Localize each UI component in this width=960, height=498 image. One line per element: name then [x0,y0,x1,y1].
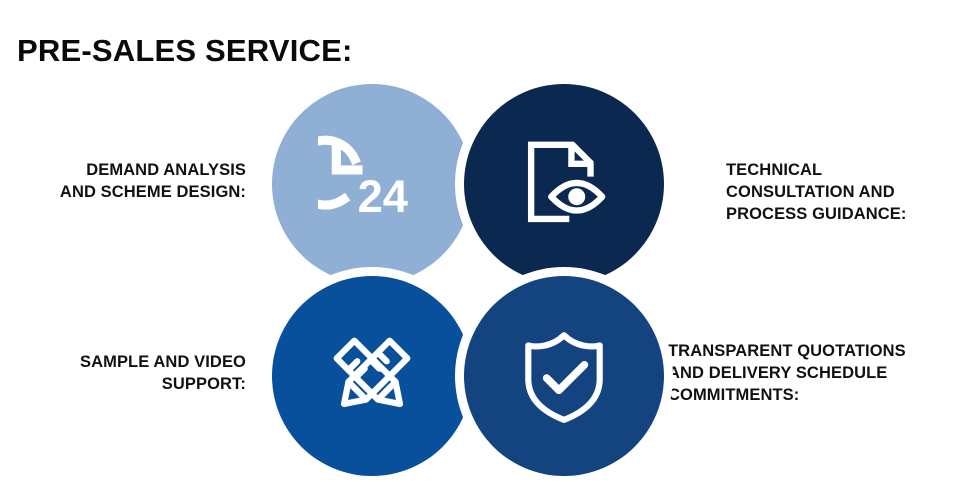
crossed-pens-design-icon [272,276,472,476]
svg-text:24: 24 [358,171,408,222]
document-eye-review-icon [464,84,664,284]
petal-transparent-quotations[interactable] [464,276,664,476]
24-hour-rotate-arrow-icon: 24 [272,84,472,284]
label-transparent-quotations: TRANSPARENT QUOTATIONS AND DELIVERY SCHE… [668,341,960,406]
page-title: PRE-SALES SERVICE: [17,33,353,69]
label-demand-analysis: DEMAND ANALYSIS AND SCHEME DESIGN: [0,160,246,204]
shield-check-icon [464,276,664,476]
pre-sales-service-diagram: 24 [272,84,664,476]
petal-demand-analysis[interactable]: 24 [272,84,472,284]
label-sample-video-support: SAMPLE AND VIDEO SUPPORT: [0,352,246,396]
petal-sample-video-support[interactable] [272,276,472,476]
petal-technical-consultation[interactable] [464,84,664,284]
label-technical-consultation: TECHNICAL CONSULTATION AND PROCESS GUIDA… [726,160,954,225]
